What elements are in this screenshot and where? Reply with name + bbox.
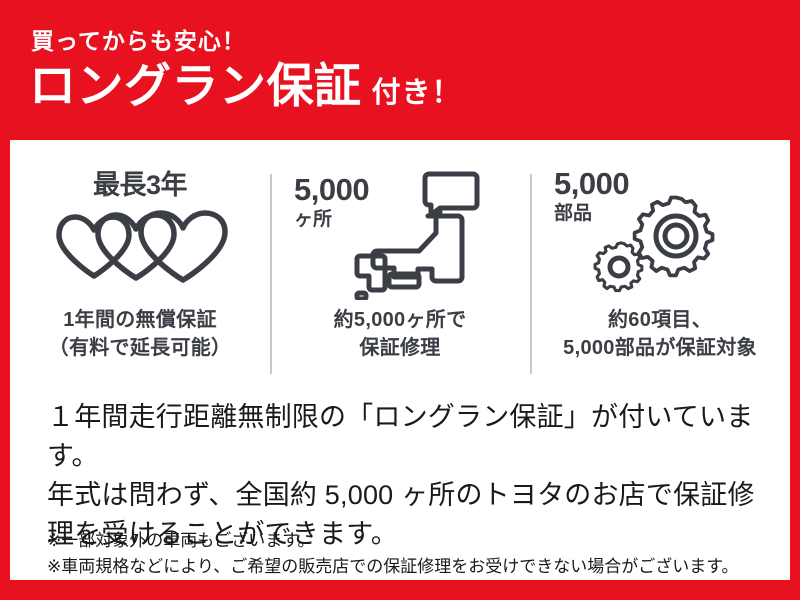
body-line-2: 年式は問わず、全国約 5,000 ヶ所のトヨタのお店で保証修	[47, 476, 763, 515]
stat-number: 最長3年	[93, 172, 187, 199]
feature-caption-locations: 約5,000ヶ所で 保証修理	[334, 306, 467, 363]
footnote-2: ※車両規格などにより、ご希望の販売店での保証修理をお受けできない場合がございます…	[47, 554, 777, 580]
caption-line-2: 5,000部品が保証対象	[563, 334, 757, 362]
caption-line-1: 約60項目、	[563, 306, 757, 334]
header-suffix: 付き！	[372, 79, 462, 108]
icon-area-hearts: 最長3年	[10, 156, 270, 306]
content-panel: 最長3年 1年間の無償保証 （有料で延長可能）	[10, 140, 790, 580]
japan-map-icon	[354, 164, 486, 305]
caption-line-2: 保証修理	[334, 334, 467, 362]
feature-caption-warranty-period: 1年間の無償保証 （有料で延長可能）	[49, 306, 232, 363]
header-headline: ロングラン保証 付き！	[29, 62, 462, 109]
feature-column-locations: 5,000 ヶ所	[270, 156, 530, 384]
header-banner: 買ってからも安心！ ロングラン保証 付き！	[0, 0, 800, 140]
icon-area-japan-map: 5,000 ヶ所	[270, 156, 530, 306]
feature-column-warranty-period: 最長3年 1年間の無償保証 （有料で延長可能）	[10, 156, 270, 384]
feature-column-parts: 5,000 部品	[530, 156, 790, 384]
body-line-1: １年間走行距離無制限の「ロングラン保証」が付いています。	[47, 398, 763, 476]
footnotes: ※一部対象外の車両もございます。 ※車両規格などにより、ご希望の販売店での保証修…	[47, 528, 777, 580]
header-title: ロングラン保証	[29, 62, 362, 109]
long-run-warranty-ad: 買ってからも安心！ ロングラン保証 付き！ 最長3年	[0, 0, 800, 600]
gears-icon	[590, 184, 730, 307]
footnote-1: ※一部対象外の車両もございます。	[47, 528, 777, 554]
three-hearts-icon	[51, 210, 229, 289]
caption-line-1: 約5,000ヶ所で	[334, 306, 467, 334]
caption-line-2: （有料で延長可能）	[49, 334, 232, 362]
stat-label-max-years: 最長3年	[93, 172, 187, 199]
feature-caption-parts: 約60項目、 5,000部品が保証対象	[563, 306, 757, 363]
header-tagline: 買ってからも安心！	[31, 22, 246, 56]
caption-line-1: 1年間の無償保証	[49, 306, 232, 334]
icon-area-gears: 5,000 部品	[530, 156, 790, 306]
feature-columns: 最長3年 1年間の無償保証 （有料で延長可能）	[10, 156, 790, 384]
